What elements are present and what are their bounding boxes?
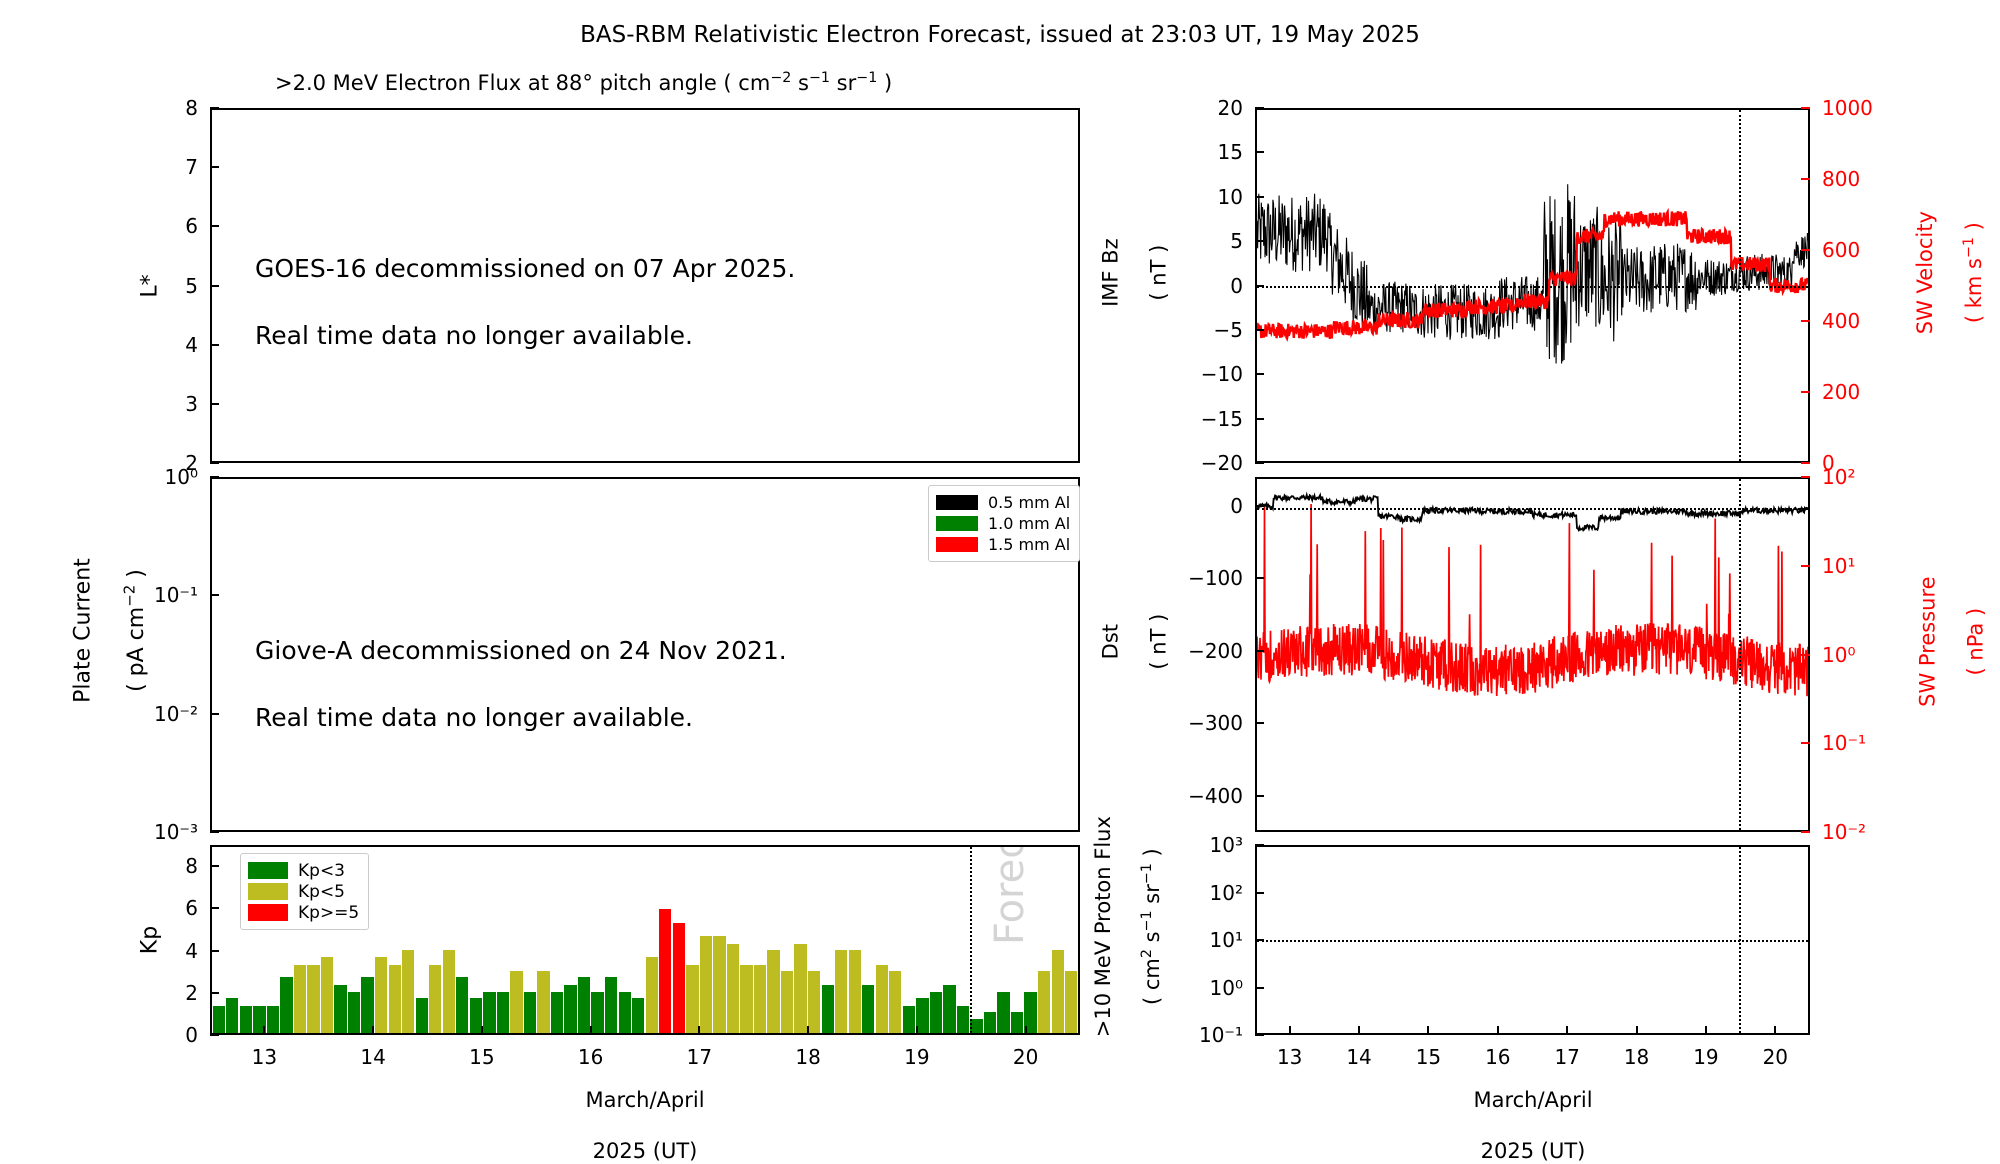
proton-flux-forecast-divider [1739,847,1741,1033]
x-tick-label: 13 [1277,1045,1302,1069]
legend-item: Kp>=5 [248,902,359,923]
y-tick-mark [1255,107,1264,109]
kp-bar [605,977,617,1033]
figure-title: BAS-RBM Relativistic Electron Forecast, … [0,22,2000,48]
kp-bar [889,971,901,1033]
y-tick-label: 10⁰ [1822,643,1855,667]
kp-bar [524,992,536,1033]
y-tick-mark [210,907,219,909]
kp-bar [740,965,752,1033]
legend-color-swatch [248,904,288,921]
kp-bar [673,923,685,1033]
y-tick-mark [1801,742,1810,744]
sw-velocity-label-exp: −1 [1962,237,1978,258]
y-tick-mark [1255,240,1264,242]
kp-bar [578,977,590,1033]
y-tick-mark [210,285,219,287]
x-tick-mark [698,1026,700,1035]
x-tick-label: 18 [1624,1045,1649,1069]
sw-velocity-label-l2: ( km s [1963,258,1987,323]
proton-flux-y-axis-label: >10 MeV Proton Flux ( cm2 s−1 sr−1 ) [1067,816,1189,1064]
lstar-unavailable-message: GOES-16 decommissioned on 07 Apr 2025. R… [255,218,795,387]
proton-flux-x-axis-label: March/April 2025 (UT) [1473,1063,1592,1164]
y-tick-label: 10⁰ [1210,976,1243,1000]
kp-bar [537,971,549,1033]
kp-bar [375,957,387,1033]
imf-bz-zero-line [1257,286,1808,288]
kp-bar [1052,950,1064,1033]
legend-color-swatch [936,495,978,510]
y-tick-mark [1255,722,1264,724]
subtitle-mid: pitch angle ( cm [593,71,770,95]
kp-bar [429,965,441,1033]
y-tick-mark [210,344,219,346]
kp-bar [334,985,346,1033]
legend-item: 0.5 mm Al [936,492,1070,513]
subtitle-exp-3: −1 [856,70,877,86]
y-tick-mark [1255,373,1264,375]
legend-label: 0.5 mm Al [988,493,1070,512]
legend-label: Kp>=5 [298,903,359,923]
proton-flux-s: s [1141,931,1165,949]
kp-bar [862,985,874,1033]
y-tick-label: 10⁻¹ [1822,731,1866,755]
lstar-y-axis-label: L* [137,274,162,297]
y-tick-label: 10⁰ [165,465,198,489]
x-tick-mark [1427,1026,1429,1035]
kp-bar [1038,971,1050,1033]
legend-color-swatch [248,862,288,879]
x-tick-label: 20 [1013,1045,1038,1069]
y-tick-label: −10 [1201,362,1243,386]
x-tick-label: 18 [795,1045,820,1069]
y-tick-label: 0 [1230,494,1243,518]
electron-flux-subtitle: >2.0 MeV Electron Flux at 88° pitch angl… [275,70,892,95]
y-tick-label: 2 [185,981,198,1005]
sw-pressure-label-l1: SW Pressure [1916,576,1940,706]
kp-bar [903,1006,915,1033]
y-tick-label: 6 [185,896,198,920]
degree-symbol: ° [582,71,593,95]
imf-bz-label-l1: IMF Bz [1099,238,1123,307]
kp-bar [916,998,928,1033]
x-tick-label: 20 [1763,1045,1788,1069]
plate-current-unavailable-message: Giove-A decommissioned on 24 Nov 2021. R… [255,600,787,769]
kp-x-axis-label: March/April 2025 (UT) [585,1063,704,1164]
kp-bar [497,992,509,1033]
subtitle-exp-1: −2 [770,70,791,86]
y-tick-label: 4 [185,939,198,963]
x-tick-mark [1636,1026,1638,1035]
y-tick-mark [210,462,219,464]
y-tick-mark [1255,844,1264,846]
x-tick-mark [1566,1026,1568,1035]
y-tick-mark [1255,418,1264,420]
legend-label: Kp<3 [298,861,345,881]
kp-legend: Kp<3Kp<5Kp>=5 [240,853,369,930]
panel-dst-plot [1255,477,1810,832]
y-tick-label: 0 [185,1023,198,1047]
y-tick-label: 7 [185,155,198,179]
x-tick-label: 14 [360,1045,385,1069]
y-tick-mark [1255,577,1264,579]
kp-bar [564,985,576,1033]
plate-current-message-line-2: Real time data no longer available. [255,701,787,735]
kp-bar [510,971,522,1033]
legend-item: Kp<3 [248,860,359,881]
sw-velocity-label-l1: SW Velocity [1913,211,1937,334]
kp-forecast-divider [970,847,972,1033]
imf-bz-label-l2: ( nT ) [1147,245,1171,301]
kp-x-label-line2: 2025 (UT) [593,1139,698,1163]
kp-bar [808,971,820,1033]
y-tick-mark [210,950,219,952]
y-tick-label: 8 [185,854,198,878]
y-tick-label: 4 [185,333,198,357]
y-tick-mark [1801,831,1810,833]
x-tick-label: 13 [252,1045,277,1069]
y-tick-mark [210,403,219,405]
legend-item: 1.0 mm Al [936,513,1070,534]
legend-color-swatch [936,537,978,552]
kp-bar [226,998,238,1033]
x-tick-mark [481,1026,483,1035]
dst-sw-pressure-traces [1257,479,1808,830]
x-tick-label: 19 [904,1045,929,1069]
y-tick-label: 600 [1822,238,1860,262]
y-tick-label: 10⁻³ [154,820,198,844]
kp-bar [686,965,698,1033]
y-tick-label: 5 [1230,229,1243,253]
dst-zero-line [1257,508,1808,510]
y-tick-mark [1801,476,1810,478]
x-tick-mark [1025,1026,1027,1035]
sw-pressure-label-l2: ( nPa ) [1964,608,1988,676]
plate-current-legend: 0.5 mm Al1.0 mm Al1.5 mm Al [928,485,1080,562]
y-tick-mark [210,225,219,227]
y-tick-mark [1255,196,1264,198]
kp-bar [781,971,793,1033]
kp-bar [713,936,725,1033]
y-tick-mark [1255,462,1264,464]
subtitle-end: ) [877,71,892,95]
y-tick-mark [1255,939,1264,941]
y-tick-mark [210,713,219,715]
kp-bar [943,985,955,1033]
x-tick-mark [807,1026,809,1035]
kp-bar [307,965,319,1033]
x-tick-label: 15 [1416,1045,1441,1069]
sw-velocity-label-end: ) [1963,222,1987,237]
y-tick-mark [210,107,219,109]
sw-velocity-y-axis-label: SW Velocity ( km s−1 ) [1889,211,2000,361]
kp-bar [984,1012,996,1033]
y-tick-mark [1255,650,1264,652]
x-tick-mark [1497,1026,1499,1035]
kp-bar [767,950,779,1033]
y-tick-mark [1255,795,1264,797]
y-tick-mark [1801,249,1810,251]
kp-bar [1011,1012,1023,1033]
y-tick-label: 20 [1218,96,1243,120]
plate-current-label-end: ) [124,569,149,585]
kp-bar [348,992,360,1033]
y-tick-mark [210,992,219,994]
x-tick-mark [1774,1026,1776,1035]
y-tick-mark [1801,320,1810,322]
y-tick-mark [1255,329,1264,331]
dst-label-l1: Dst [1099,624,1123,659]
subtitle-sr: sr [830,71,856,95]
x-tick-mark [263,1026,265,1035]
plate-current-label-l1: Plate Current [71,558,96,703]
x-tick-label: 15 [469,1045,494,1069]
y-tick-mark [1801,462,1810,464]
plate-current-label-l2: ( pA cm [124,607,149,692]
legend-label: 1.5 mm Al [988,535,1070,554]
figure-canvas: BAS-RBM Relativistic Electron Forecast, … [0,0,2000,1100]
kp-y-axis-label: Kp [137,926,162,954]
panel-proton-flux-plot [1255,845,1810,1035]
y-tick-label: −300 [1188,711,1243,735]
x-tick-label: 14 [1346,1045,1371,1069]
dst-label-l2: ( nT ) [1147,614,1171,670]
y-tick-label: 8 [185,96,198,120]
kp-bar [294,965,306,1033]
y-tick-label: −20 [1201,451,1243,475]
proton-flux-label-l1: >10 MeV Proton Flux [1091,816,1115,1037]
y-tick-label: 10² [1822,465,1855,489]
kp-bar [619,992,631,1033]
y-tick-label: −15 [1201,407,1243,431]
y-tick-label: 10⁻² [1822,820,1866,844]
kp-bar [849,950,861,1033]
y-tick-mark [210,1034,219,1036]
lstar-message-line-1: GOES-16 decommissioned on 07 Apr 2025. [255,252,795,286]
kp-bar [361,977,373,1033]
proton-flux-end: ) [1141,848,1165,863]
x-tick-mark [372,1026,374,1035]
kp-bar [443,950,455,1033]
kp-bar [876,965,888,1033]
kp-bar [822,985,834,1033]
y-tick-mark [1255,987,1264,989]
kp-bar [794,944,806,1033]
y-tick-label: −100 [1188,566,1243,590]
y-tick-label: 10⁻¹ [1199,1023,1243,1047]
kp-bar [389,965,401,1033]
kp-bar [591,992,603,1033]
proton-x-label-line2: 2025 (UT) [1481,1139,1586,1163]
proton-flux-threshold-line [1257,940,1808,942]
kp-bar [700,936,712,1033]
kp-bar [754,965,766,1033]
kp-bar [930,992,942,1033]
proton-flux-exp1: 2 [1140,949,1156,958]
kp-bar [997,992,1009,1033]
y-tick-mark [210,476,219,478]
proton-x-label-line1: March/April [1473,1088,1592,1112]
imf-bz-y-axis-label: IMF Bz ( nT ) [1075,238,1196,333]
legend-color-swatch [248,883,288,900]
y-tick-mark [210,166,219,168]
kp-bar [632,998,644,1033]
kp-bar [551,992,563,1033]
sw-pressure-y-axis-label: SW Pressure ( nPa ) [1892,576,2000,733]
y-tick-label: 5 [185,274,198,298]
kp-bar [659,909,671,1033]
kp-bar [646,957,658,1033]
x-tick-mark [1289,1026,1291,1035]
y-tick-mark [1801,391,1810,393]
legend-item: 1.5 mm Al [936,534,1070,555]
y-tick-mark [1801,565,1810,567]
y-tick-label: −400 [1188,784,1243,808]
y-tick-label: 15 [1218,140,1243,164]
kp-bar [402,950,414,1033]
proton-flux-exp2: −1 [1140,910,1156,931]
kp-bar [416,998,428,1033]
y-tick-label: 1000 [1822,96,1873,120]
legend-label: Kp<5 [298,882,345,902]
kp-bar [321,957,333,1033]
y-tick-label: 10⁻¹ [154,583,198,607]
kp-bar [267,1006,279,1033]
y-tick-mark [1801,654,1810,656]
y-tick-mark [1255,151,1264,153]
y-tick-label: 10³ [1210,833,1243,857]
y-tick-mark [1255,1034,1264,1036]
y-tick-label: 200 [1822,380,1860,404]
subtitle-prefix: >2.0 MeV Electron Flux at 88 [275,71,582,95]
proton-flux-exp3: −1 [1140,863,1156,884]
y-tick-label: 10¹ [1822,554,1855,578]
x-tick-label: 19 [1693,1045,1718,1069]
y-tick-label: −5 [1214,318,1243,342]
legend-label: 1.0 mm Al [988,514,1070,533]
proton-flux-label-l2: ( cm [1141,958,1165,1005]
kp-bar [456,977,468,1033]
y-tick-label: 400 [1822,309,1860,333]
kp-bar [280,977,292,1033]
kp-forecast-watermark: Forecast [987,845,1033,945]
plate-current-message-line-1: Giove-A decommissioned on 24 Nov 2021. [255,634,787,668]
kp-bar [483,992,495,1033]
y-tick-label: 3 [185,392,198,416]
lstar-message-line-2: Real time data no longer available. [255,319,795,353]
legend-color-swatch [936,516,978,531]
y-tick-label: 6 [185,214,198,238]
subtitle-exp-2: −1 [809,70,830,86]
y-tick-label: 10¹ [1210,928,1243,952]
panel-imf-bz-plot [1255,108,1810,463]
kp-bar [835,950,847,1033]
y-tick-label: 800 [1822,167,1860,191]
y-tick-mark [210,831,219,833]
y-tick-mark [1255,505,1264,507]
y-tick-label: 10⁻² [154,702,198,726]
legend-item: Kp<5 [248,881,359,902]
y-tick-label: 10² [1210,881,1243,905]
kp-bar [240,1006,252,1033]
kp-bar [727,944,739,1033]
y-tick-label: −200 [1188,639,1243,663]
x-tick-mark [590,1026,592,1035]
kp-bar [957,1006,969,1033]
plate-current-label-exp: −2 [120,585,138,607]
y-tick-label: 0 [1230,274,1243,298]
y-tick-mark [1255,285,1264,287]
kp-bar [970,1019,982,1033]
dst-y-axis-label: Dst ( nT ) [1075,614,1196,697]
y-tick-mark [210,594,219,596]
y-tick-mark [1255,892,1264,894]
kp-x-label-line1: March/April [585,1088,704,1112]
dst-forecast-divider [1739,479,1741,830]
x-tick-mark [916,1026,918,1035]
kp-bar [213,1006,225,1033]
y-tick-label: 10 [1218,185,1243,209]
proton-flux-sr: sr [1141,884,1165,910]
x-tick-mark [1358,1026,1360,1035]
y-tick-mark [1801,178,1810,180]
subtitle-s: s [791,71,809,95]
x-tick-mark [1705,1026,1707,1035]
y-tick-mark [210,865,219,867]
imf-bz-forecast-divider [1739,110,1741,461]
y-tick-mark [1801,107,1810,109]
